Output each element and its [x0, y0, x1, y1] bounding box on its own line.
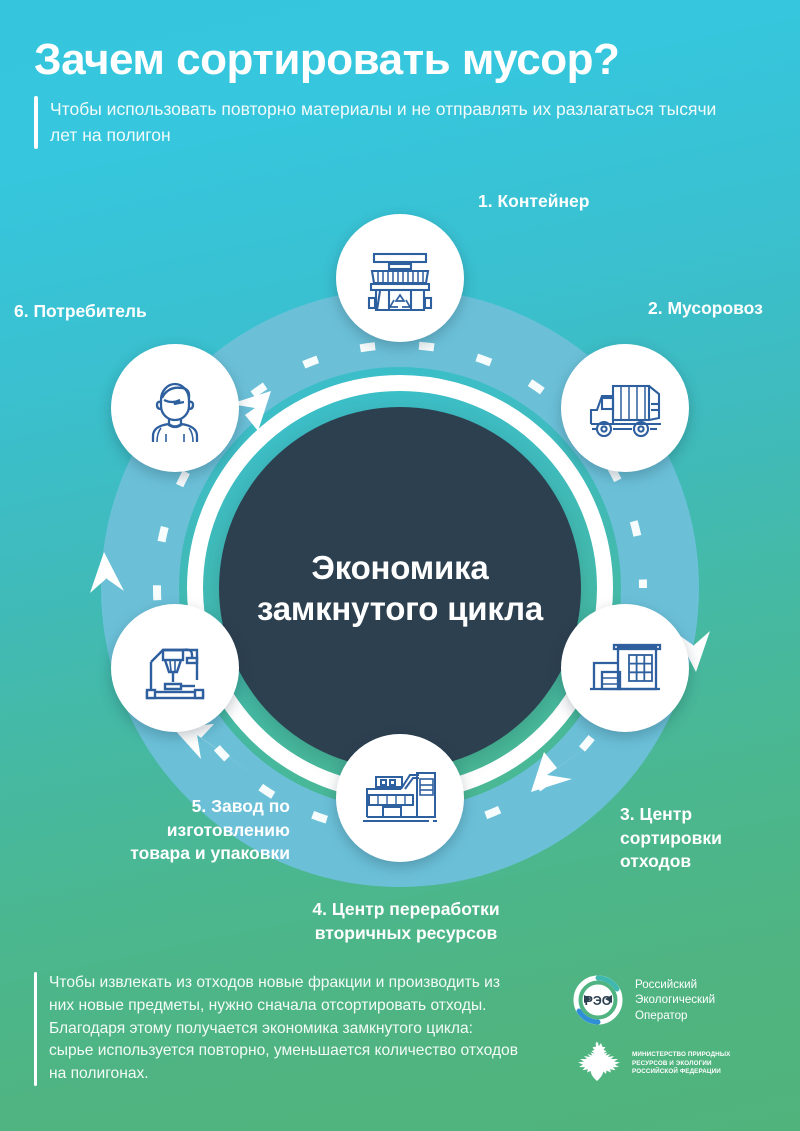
infographic-poster: Зачем сортировать мусор? Чтобы использов… — [0, 0, 800, 1131]
logo-reo: РЭО Российский Экологический Оператор — [572, 974, 792, 1026]
logo-ministry: МИНИСТЕРСТВО ПРИРОДНЫХ РЕСУРСОВ И ЭКОЛОГ… — [572, 1040, 792, 1088]
header: Зачем сортировать мусор? Чтобы использов… — [34, 38, 774, 149]
consumer-icon — [135, 368, 215, 448]
footer-text: Чтобы извлекать из отходов новые фракции… — [49, 972, 519, 1086]
cycle-node-factory[interactable] — [111, 604, 239, 732]
russian-eagle-icon — [572, 1040, 622, 1088]
recycling-plant-icon — [357, 755, 443, 841]
cycle-node-sorting-center[interactable] — [561, 604, 689, 732]
cycle-node-container[interactable] — [336, 214, 464, 342]
footer-text-block: Чтобы извлекать из отходов новые фракции… — [34, 972, 519, 1086]
reo-logo-caption: Российский Экологический Оператор — [635, 977, 715, 1024]
step-label-1: 1. Контейнер — [478, 190, 589, 214]
step-label-6: 6. Потребитель — [14, 300, 147, 324]
subtitle: Чтобы использовать повторно материалы и … — [50, 96, 740, 149]
subtitle-accent-bar — [34, 96, 38, 149]
step-label-2: 2. Мусоровоз — [648, 297, 763, 321]
reo-logo-text: РЭО — [585, 994, 612, 1008]
garbage-truck-icon — [583, 366, 667, 450]
cycle-node-truck[interactable] — [561, 344, 689, 472]
cycle-core-title: Экономика замкнутого цикла — [219, 547, 581, 630]
cycle-core: Экономика замкнутого цикла — [219, 407, 581, 769]
footer-accent-bar — [34, 972, 37, 1086]
logo-group: РЭО Российский Экологический Оператор МИ… — [572, 974, 792, 1088]
3d-printer-icon — [135, 628, 215, 708]
cycle-node-consumer[interactable] — [111, 344, 239, 472]
sorting-center-icon — [584, 627, 666, 709]
step-label-4: 4. Центр переработки вторичных ресурсов — [281, 898, 531, 945]
ministry-logo-caption: МИНИСТЕРСТВО ПРИРОДНЫХ РЕСУРСОВ И ЭКОЛОГ… — [632, 1051, 730, 1078]
container-icon — [360, 238, 440, 318]
step-label-5: 5. Завод по изготовлению товара и упаков… — [40, 795, 290, 866]
reo-logo-icon: РЭО — [572, 974, 624, 1026]
cycle-node-recycling-plant[interactable] — [336, 734, 464, 862]
step-label-3: 3. Центр сортировки отходов — [620, 803, 722, 874]
subtitle-block: Чтобы использовать повторно материалы и … — [34, 96, 774, 149]
page-title: Зачем сортировать мусор? — [34, 38, 774, 82]
